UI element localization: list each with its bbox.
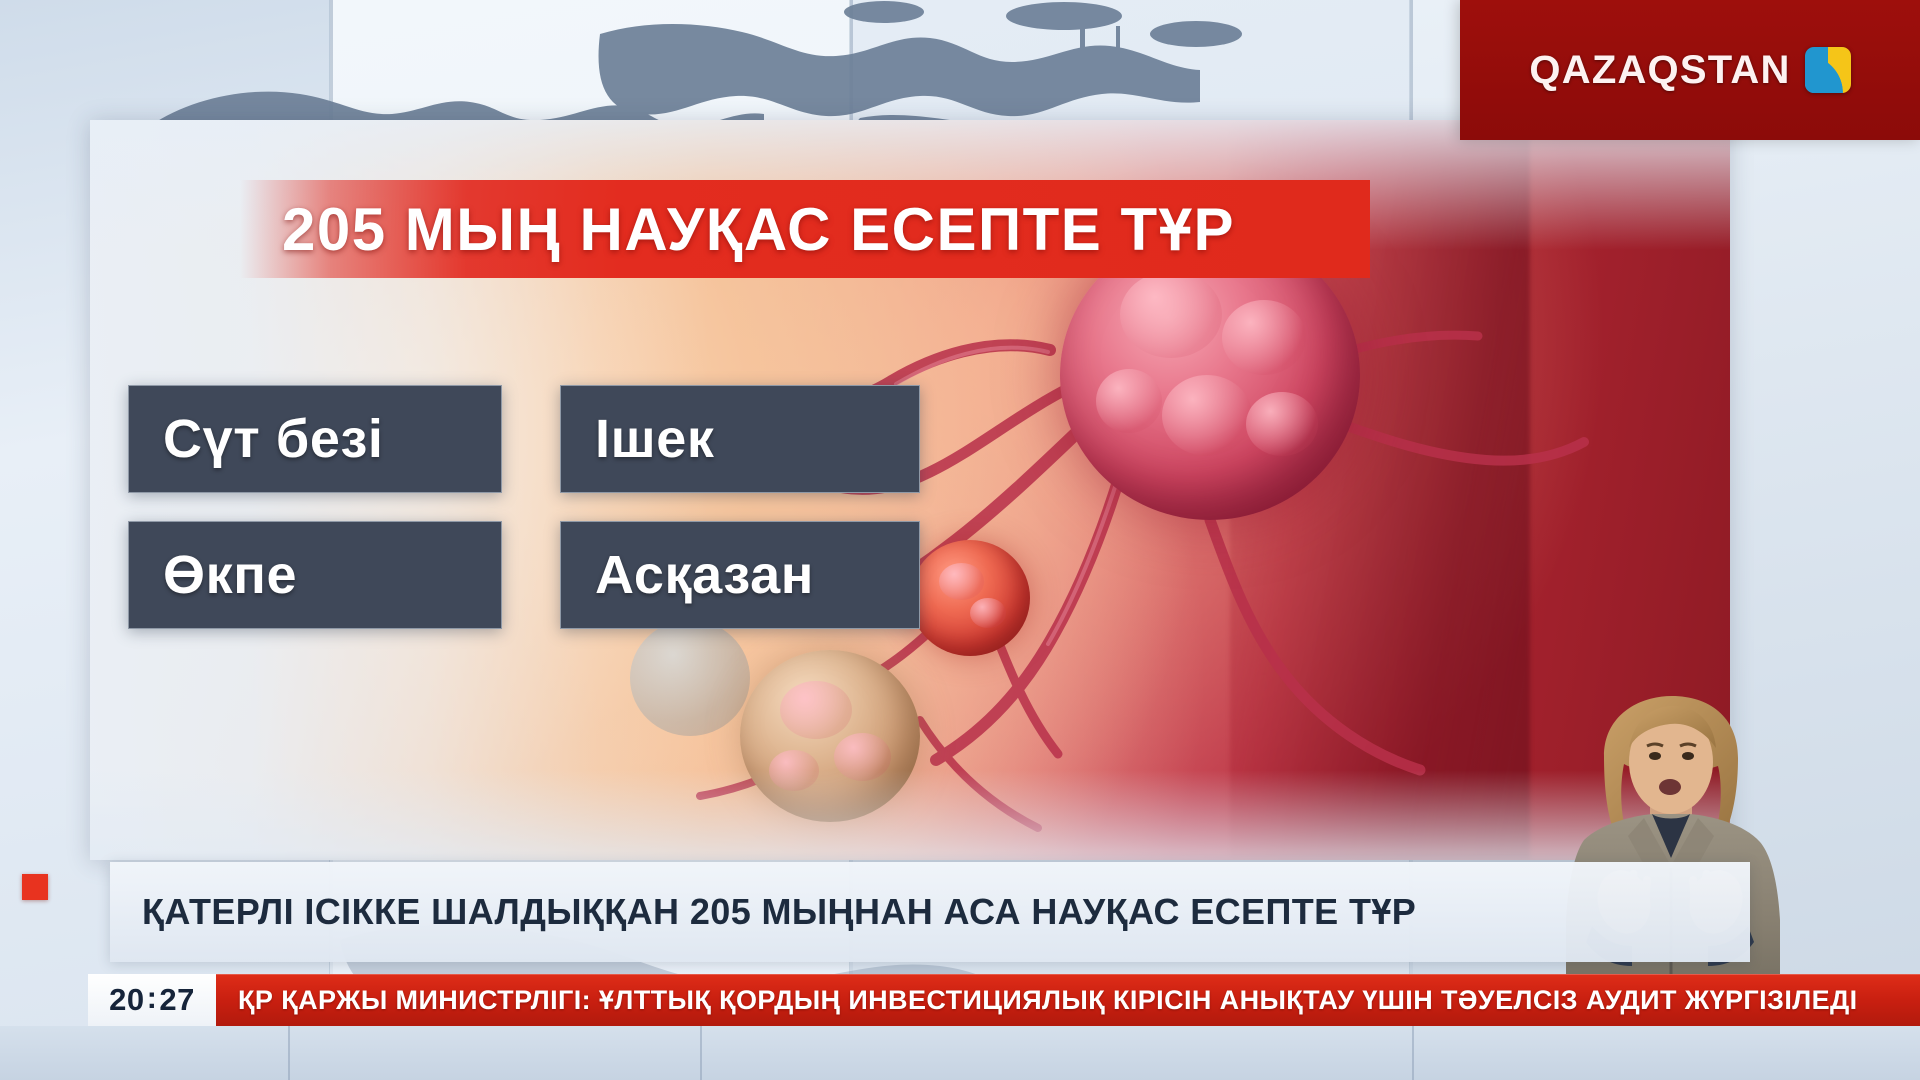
cancer-type-list: Сүт безі Ішек Өкпе Асқазан [128,385,920,657]
lower-third-caption: ҚАТЕРЛІ ІСІККЕ ШАЛДЫҚҚАН 205 МЫҢНАН АСА … [110,862,1750,962]
cancer-type-chip-breast: Сүт безі [128,385,502,493]
bottom-strip [0,1026,1920,1080]
panel-bottom-fade [90,770,1730,860]
news-ticker: 20 : 27 ҚР ҚАРЖЫ МИНИСТРЛІГІ: ҰЛТТЫҚ ҚОР… [88,974,1920,1026]
news-presenter-icon [1540,690,1830,1015]
cancer-type-row: Өкпе Асқазан [128,521,920,629]
ticker-text: ҚР ҚАРЖЫ МИНИСТРЛІГІ: ҰЛТТЫҚ ҚОРДЫҢ ИНВЕ… [216,985,1858,1016]
clock-separator: : [147,980,158,1016]
clock-hours: 20 [109,982,144,1018]
channel-name: QAZAQSTAN [1529,48,1790,93]
cell-secondary [910,540,1030,656]
ticker-body: ҚР ҚАРЖЫ МИНИСТРЛІГІ: ҰЛТТЫҚ ҚОРДЫҢ ИНВЕ… [216,974,1920,1026]
cancer-type-label: Асқазан [595,544,814,606]
kazakhstan-flag-square-icon [1805,47,1851,93]
caption-text: ҚАТЕРЛІ ІСІККЕ ШАЛДЫҚҚАН 205 МЫҢНАН АСА … [110,891,1416,933]
cancer-type-label: Өкпе [163,544,297,606]
red-square-marker-icon [22,874,48,900]
ticker-clock: 20 : 27 [88,974,216,1026]
cancer-type-label: Сүт безі [163,408,384,470]
headline-banner: 205 МЫҢ НАУҚАС ЕСЕПТЕ ТҰР [240,180,1370,278]
cancer-type-chip-intestine: Ішек [560,385,920,493]
cancer-type-chip-lung: Өкпе [128,521,502,629]
channel-logo: QAZAQSTAN [1460,0,1920,140]
cancer-type-label: Ішек [595,408,714,470]
broadcast-screen: QAZAQSTAN 205 МЫҢ НАУҚАС ЕСЕПТЕ ТҰР Сүт … [0,0,1920,1080]
clock-minutes: 27 [159,982,194,1018]
cancer-type-row: Сүт безі Ішек [128,385,920,493]
headline-text: 205 МЫҢ НАУҚАС ЕСЕПТЕ ТҰР [240,195,1235,264]
cancer-type-chip-stomach: Асқазан [560,521,920,629]
